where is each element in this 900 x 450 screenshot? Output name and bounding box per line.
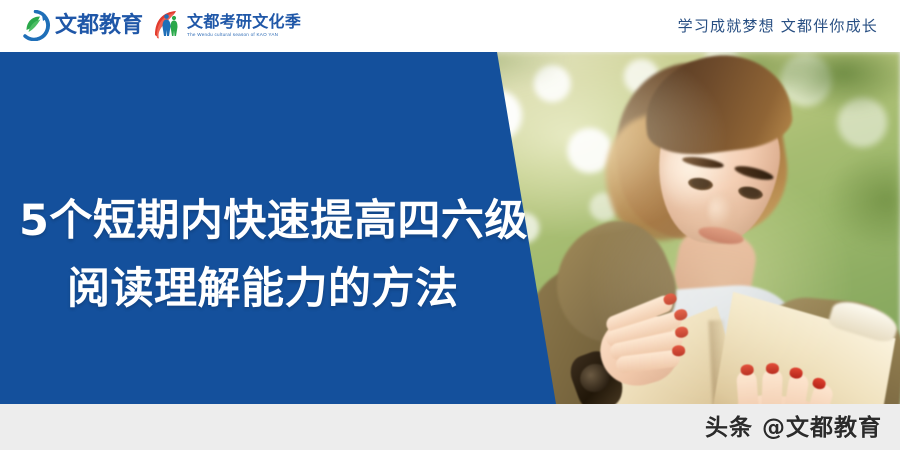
headline-line-2: 阅读理解能力的方法 [67,254,459,316]
wendu-green-swirl-logo-icon [20,10,51,41]
page-header: 文都教育 文都考研文化季 The Wendu cultural season [0,0,900,52]
kaoyan-season-logo-text-wrap: 文都考研文化季 The Wendu cultural season of KAO… [187,9,301,41]
kaoyan-season-logo-text: 文都考研文化季 [187,13,301,31]
banner-image: 5个短期内快速提高四六级 阅读理解能力的方法 文都教育 [0,0,900,450]
headline-block: 5个短期内快速提高四六级 阅读理解能力的方法 [0,52,600,404]
kaoyan-season-logo[interactable]: 文都考研文化季 The Wendu cultural season of KAO… [154,9,301,41]
wendu-education-logo[interactable]: 文都教育 [20,10,143,41]
kaoyan-season-people-logo-icon [154,10,183,40]
toutiao-watermark: 头条 @文都教育 [705,404,882,450]
logo-group: 文都教育 文都考研文化季 The Wendu cultural season [20,9,301,41]
headline-line-1: 5个短期内快速提高四六级 [19,186,528,248]
wendu-education-logo-text: 文都教育 [55,10,143,41]
header-tagline: 学习成就梦想 文都伴你成长 [678,0,878,52]
kaoyan-season-logo-subtitle: The Wendu cultural season of KAO YAN [187,31,301,38]
